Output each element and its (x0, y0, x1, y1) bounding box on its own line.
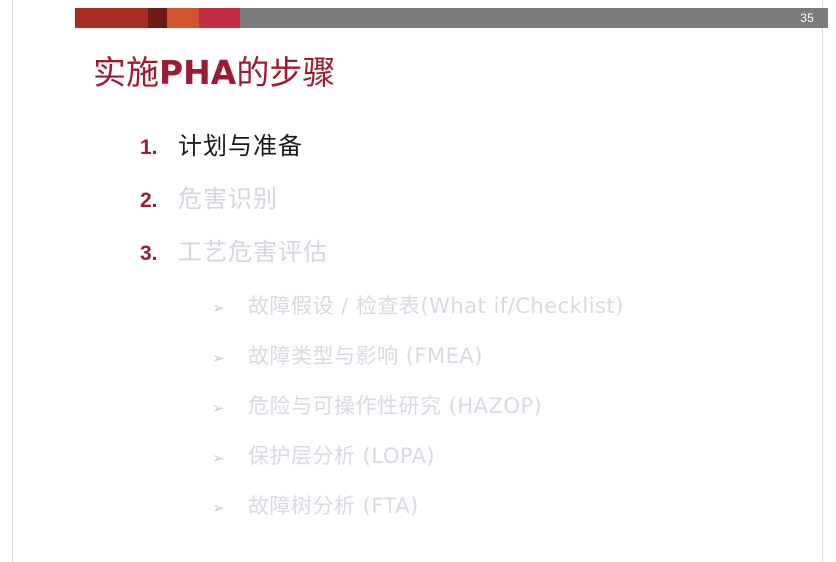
list-item-label: 计划与准备 (178, 131, 303, 161)
list-item-number: 2. (140, 186, 178, 216)
banner-segment-deep-maroon (148, 8, 167, 28)
header-banner: 35 (75, 8, 828, 28)
banner-segment-crimson (199, 8, 240, 28)
footer-watermark (690, 540, 810, 556)
sub-list-item-label: 故障树分析 (FTA) (248, 493, 419, 519)
page-title-suffix: 的步骤 (236, 53, 335, 92)
sub-list-item: ➢ 保护层分析 (LOPA) (212, 443, 812, 493)
slide-left-border (12, 0, 13, 562)
list-item-number: 1. (140, 133, 178, 163)
sub-list-item-label: 故障类型与影响 (FMEA) (248, 343, 483, 369)
sub-bullet-list: ➢ 故障假设 / 检查表(What if/Checklist) ➢ 故障类型与影… (212, 293, 812, 543)
banner-segment-dark-red (75, 8, 148, 28)
arrow-bullet-icon: ➢ (212, 295, 248, 321)
arrow-bullet-icon: ➢ (212, 395, 248, 421)
slide-right-border (822, 0, 823, 562)
sub-list-item: ➢ 危险与可操作性研究 (HAZOP) (212, 393, 812, 443)
list-item: 2. 危害识别 (140, 184, 780, 237)
list-item: 3. 工艺危害评估 (140, 237, 780, 290)
sub-list-item: ➢ 故障类型与影响 (FMEA) (212, 343, 812, 393)
sub-list-item-label: 故障假设 / 检查表(What if/Checklist) (248, 293, 624, 319)
list-item: 1. 计划与准备 (140, 131, 780, 184)
list-item-label: 危害识别 (178, 184, 278, 214)
sub-list-item: ➢ 故障假设 / 检查表(What if/Checklist) (212, 293, 812, 343)
arrow-bullet-icon: ➢ (212, 495, 248, 521)
page-title-acronym: PHA (159, 53, 236, 92)
banner-segment-orange-red (167, 8, 199, 28)
list-item-label: 工艺危害评估 (178, 237, 328, 267)
list-item-number: 3. (140, 239, 178, 269)
page-title-prefix: 实施 (93, 53, 159, 92)
arrow-bullet-icon: ➢ (212, 345, 248, 371)
sub-list-item: ➢ 故障树分析 (FTA) (212, 493, 812, 543)
sub-list-item-label: 保护层分析 (LOPA) (248, 443, 435, 469)
slide-canvas: 35 实施PHA的步骤 1. 计划与准备 2. 危害识别 3. 工艺危害评估 ➢… (0, 0, 836, 562)
page-number: 35 (800, 12, 814, 24)
sub-list-item-label: 危险与可操作性研究 (HAZOP) (248, 393, 542, 419)
numbered-list: 1. 计划与准备 2. 危害识别 3. 工艺危害评估 (140, 131, 780, 290)
page-title: 实施PHA的步骤 (93, 52, 335, 94)
banner-segment-gray: 35 (240, 8, 828, 28)
arrow-bullet-icon: ➢ (212, 445, 248, 471)
